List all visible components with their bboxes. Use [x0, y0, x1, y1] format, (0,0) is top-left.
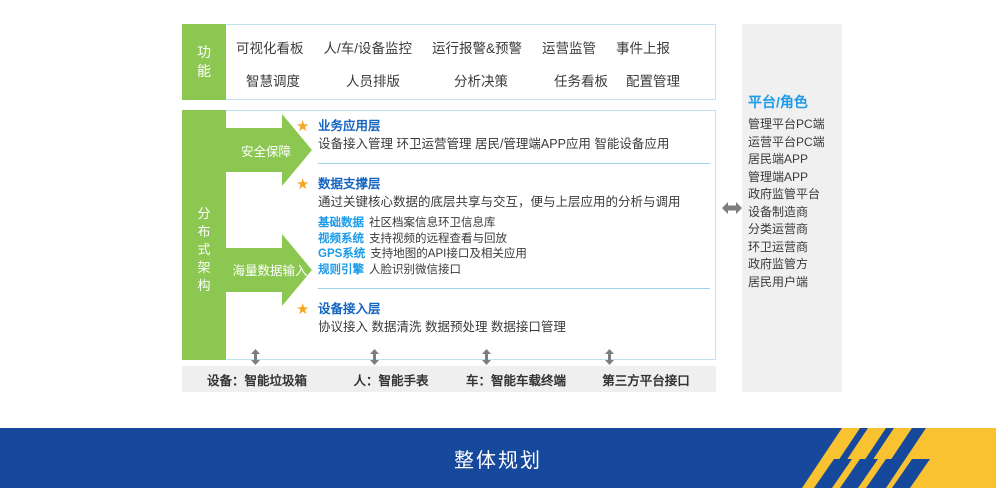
sub-item-key: 视频系统: [318, 233, 364, 245]
role-item[interactable]: 居民端APP: [748, 151, 840, 169]
layer-divider: [318, 163, 710, 164]
sub-item: 基础数据社区档案信息环卫信息库: [318, 216, 710, 232]
sub-item-value: 社区档案信息环卫信息库: [369, 217, 496, 229]
layer-desc: 设备接入管理 环卫运营管理 居民/管理端APP应用 智能设备应用: [318, 136, 710, 153]
role-item[interactable]: 分类运营商: [748, 221, 840, 239]
sub-item: 视频系统支持视频的远程查看与回放: [318, 232, 710, 248]
role-item[interactable]: 运营平台PC端: [748, 134, 840, 152]
function-item[interactable]: 人员排版: [346, 70, 400, 90]
architecture-layers: ★ 业务应用层 设备接入管理 环卫运营管理 居民/管理端APP应用 智能设备应用…: [318, 118, 710, 354]
device-item: 设备：智能垃圾箱: [182, 370, 332, 389]
role-item[interactable]: 设备制造商: [748, 204, 840, 222]
device-item: 车：智能车载终端: [450, 370, 582, 389]
star-icon: ★: [296, 119, 311, 134]
layer-title: 数据支撑层: [318, 176, 710, 192]
platform-role-list: 平台/角色 管理平台PC端 运营平台PC端 居民端APP 管理端APP 政府监管…: [748, 92, 840, 291]
sub-item-value: 支持视频的远程查看与回放: [369, 233, 507, 245]
layer-title: 业务应用层: [318, 118, 710, 134]
vertical-double-arrow-icon: [250, 349, 261, 365]
sub-item-value: 人脸识别微信接口: [369, 264, 461, 276]
function-item[interactable]: 智慧调度: [246, 70, 300, 90]
device-item: 第三方平台接口: [582, 370, 710, 389]
star-icon: ★: [296, 302, 311, 317]
distributed-architecture-spine: [182, 110, 314, 360]
banner-title: 整体规划: [0, 428, 996, 488]
role-item[interactable]: 管理平台PC端: [748, 116, 840, 134]
vertical-double-arrow-icon: [481, 349, 492, 365]
layer-sub-list: 基础数据社区档案信息环卫信息库 视频系统支持视频的远程查看与回放 GPS系统支持…: [318, 216, 710, 278]
function-tab-label: 功能: [197, 43, 211, 81]
function-item[interactable]: 任务看板: [554, 70, 608, 90]
slide-canvas: 功能 可视化看板 人/车/设备监控 运行报警&预警 运营监管 事件上报 智慧调度…: [0, 0, 996, 488]
sub-item: 规则引擎人脸识别微信接口: [318, 263, 710, 279]
function-row: 智慧调度 人员排版 分析决策 任务看板 配置管理: [236, 63, 710, 96]
device-bar: 设备：智能垃圾箱 人：智能手表 车：智能车载终端 第三方平台接口: [182, 366, 716, 392]
horizontal-double-arrow-icon: [722, 198, 742, 218]
role-item[interactable]: 政府监管平台: [748, 186, 840, 204]
function-item[interactable]: 运营监管: [542, 37, 596, 57]
function-tab: 功能: [182, 24, 226, 100]
role-item[interactable]: 政府监管方: [748, 256, 840, 274]
layer-desc: 协议接入 数据清洗 数据预处理 数据接口管理: [318, 319, 710, 336]
function-item[interactable]: 分析决策: [454, 70, 508, 90]
sub-item-key: GPS系统: [318, 248, 365, 260]
function-rows: 可视化看板 人/车/设备监控 运行报警&预警 运营监管 事件上报 智慧调度 人员…: [236, 30, 710, 96]
layer-divider: [318, 288, 710, 289]
device-item: 人：智能手表: [332, 370, 450, 389]
layer-device-access: ★ 设备接入层 协议接入 数据清洗 数据预处理 数据接口管理: [318, 301, 710, 336]
function-item[interactable]: 配置管理: [626, 70, 680, 90]
platform-role-title: 平台/角色: [748, 92, 840, 112]
function-row: 可视化看板 人/车/设备监控 运行报警&预警 运营监管 事件上报: [236, 30, 710, 63]
role-item[interactable]: 管理端APP: [748, 169, 840, 187]
layer-title: 设备接入层: [318, 301, 710, 317]
bottom-banner: 整体规划: [0, 428, 996, 488]
vertical-double-arrow-icon: [369, 349, 380, 365]
layer-data-support: ★ 数据支撑层 通过关键核心数据的底层共享与交互，便与上层应用的分析与调用 基础…: [318, 176, 710, 278]
role-item[interactable]: 居民用户端: [748, 274, 840, 292]
function-item[interactable]: 可视化看板: [236, 37, 304, 57]
layer-desc: 通过关键核心数据的底层共享与交互，便与上层应用的分析与调用: [318, 194, 710, 211]
role-item[interactable]: 环卫运营商: [748, 239, 840, 257]
layer-business-application: ★ 业务应用层 设备接入管理 环卫运营管理 居民/管理端APP应用 智能设备应用: [318, 118, 710, 153]
function-item[interactable]: 运行报警&预警: [432, 37, 522, 57]
sub-item-key: 规则引擎: [318, 264, 364, 276]
star-icon: ★: [296, 177, 311, 192]
sub-item-key: 基础数据: [318, 217, 364, 229]
sub-item: GPS系统支持地图的API接口及相关应用: [318, 247, 710, 263]
function-item[interactable]: 人/车/设备监控: [324, 37, 413, 57]
sub-item-value: 支持地图的API接口及相关应用: [370, 248, 527, 260]
vertical-double-arrow-icon: [604, 349, 615, 365]
function-item[interactable]: 事件上报: [616, 37, 670, 57]
